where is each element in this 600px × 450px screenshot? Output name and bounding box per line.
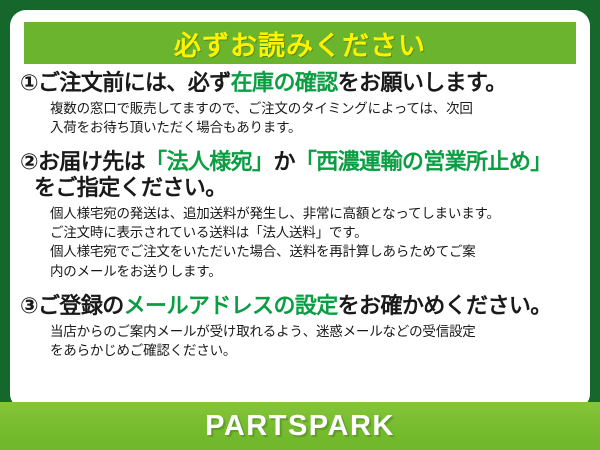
item-2-number: ② — [20, 149, 38, 174]
partspark-logo: PARTSPARK — [205, 410, 395, 443]
item-3-number: ③ — [20, 293, 38, 318]
footer-band: PARTSPARK — [0, 402, 600, 450]
notice-banner: 必ずお読みください ①ご注文前には、必ず在庫の確認をお願いします。 複数の窓口で… — [0, 0, 600, 450]
item-3-body: 当店からのご案内メールが受け取れるよう、迷惑メールなどの受信設定 をあらかじめご… — [20, 322, 582, 360]
item-2-heading-mid: か — [273, 149, 294, 174]
item-3-heading-highlight: メールアドレスの設定 — [124, 293, 338, 318]
item-2-heading: ②お届け先は「法人様宛」か「西濃運輸の営業所止め」 — [20, 149, 582, 175]
item-3-heading: ③ご登録のメールアドレスの設定をお確かめください。 — [20, 293, 582, 319]
item-2-heading-highlight-2: 「西濃運輸の営業所止め」 — [295, 149, 552, 174]
item-1-body: 複数の窓口で販売してますので、ご注文のタイミングによっては、次回 入荷をお待ち頂… — [20, 99, 582, 137]
item-1-heading-highlight: 在庫の確認 — [231, 70, 338, 95]
title-bar: 必ずお読みください — [24, 22, 576, 64]
banner-title: 必ずお読みください — [174, 24, 426, 63]
item-1-heading-pre: ご注文前には、必ず — [38, 70, 231, 95]
item-2-body: 個人様宅宛の発送は、追加送料が発生し、非常に高額となってしまいます。 ご注文時に… — [20, 204, 582, 281]
item-3-heading-post: をお確かめください。 — [338, 293, 552, 318]
notice-item-2: ②お届け先は「法人様宛」か「西濃運輸の営業所止め」 をご指定ください。 個人様宅… — [20, 149, 582, 281]
notice-card: 必ずお読みください ①ご注文前には、必ず在庫の確認をお願いします。 複数の窓口で… — [10, 10, 590, 408]
notice-content: ①ご注文前には、必ず在庫の確認をお願いします。 複数の窓口で販売してますので、ご… — [10, 70, 590, 362]
item-2-heading-pre: お届け先は — [38, 149, 145, 174]
item-1-heading-post: をお願いします。 — [338, 70, 507, 95]
item-1-number: ① — [20, 70, 38, 95]
item-2-heading-line2: をご指定ください。 — [20, 175, 582, 201]
notice-item-1: ①ご注文前には、必ず在庫の確認をお願いします。 複数の窓口で販売してますので、ご… — [20, 70, 582, 137]
item-1-heading: ①ご注文前には、必ず在庫の確認をお願いします。 — [20, 70, 582, 96]
item-3-heading-pre: ご登録の — [38, 293, 124, 318]
item-2-heading-highlight: 「法人様宛」 — [145, 149, 273, 174]
notice-item-3: ③ご登録のメールアドレスの設定をお確かめください。 当店からのご案内メールが受け… — [20, 293, 582, 360]
